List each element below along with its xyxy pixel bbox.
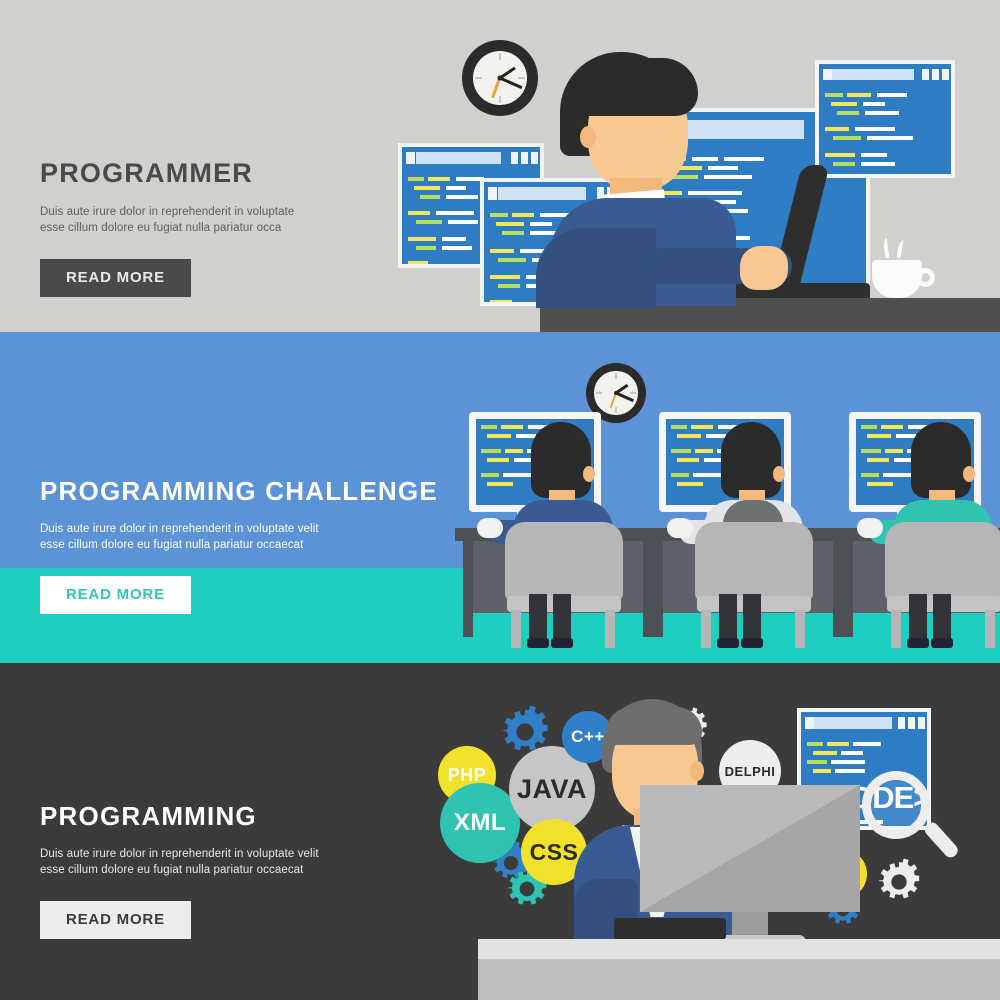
cup-body (872, 260, 922, 298)
chair-leg (701, 610, 711, 648)
window-address-bar (832, 69, 914, 81)
desk-leg (843, 541, 853, 637)
window-minimize-icon[interactable] (898, 717, 905, 729)
page-title: PROGRAMMING (40, 803, 319, 829)
person-hand (857, 518, 883, 538)
shoe (551, 638, 573, 648)
window-maximize-icon[interactable] (908, 717, 915, 729)
clock-tick (596, 392, 602, 394)
window-maximize-icon[interactable] (932, 69, 939, 81)
page-title: PROGRAMMING CHALLENGE (40, 478, 438, 504)
tech-bubble-xml[interactable]: XML (440, 783, 520, 863)
person-legs (529, 594, 579, 652)
person-ear (583, 466, 595, 482)
workstation-1 (455, 412, 670, 662)
person-ear (773, 466, 785, 482)
code-window-floating (815, 60, 955, 178)
magnifier-icon (862, 771, 930, 839)
description-line: Duis aute irure dolor in reprehenderit i… (40, 204, 294, 220)
tech-bubble-label: CSS (530, 839, 579, 866)
banner-set-page: PHP XML JAVA CSS C++ DELPHI CMS (0, 0, 1000, 1000)
tech-bubble-label: JAVA (517, 774, 587, 805)
shoe (931, 638, 953, 648)
read-more-button[interactable]: READ MORE (40, 576, 191, 614)
chair-back (885, 522, 1000, 600)
man-hair-front (606, 707, 702, 745)
clock-center-pin (498, 76, 503, 81)
shoe (741, 638, 763, 648)
clock-tick (499, 53, 501, 60)
leg (909, 594, 927, 642)
clock-tick (499, 96, 501, 103)
page-title: PROGRAMMER (40, 160, 294, 187)
banner-description: Duis aute irure dolor in reprehenderit i… (40, 521, 438, 554)
description-line: esse cillum dolore eu fugiat nulla paria… (40, 537, 438, 553)
clock-tick (615, 373, 617, 379)
workstation-3 (835, 412, 1000, 662)
man-hair-front (580, 58, 698, 116)
shoe (907, 638, 929, 648)
cup-handle (916, 268, 935, 287)
chair-leg (605, 610, 615, 648)
leg (553, 594, 571, 642)
window-menu-icon (488, 187, 497, 200)
window-titlebar (801, 712, 927, 734)
clock-tick (475, 77, 482, 79)
keyboard[interactable] (614, 918, 726, 940)
workstation-2 (645, 412, 860, 662)
banner-description: Duis aute irure dolor in reprehenderit i… (40, 204, 294, 237)
window-titlebar (402, 147, 540, 169)
clock-tick (630, 392, 636, 394)
clock-center-pin (614, 391, 618, 395)
read-more-button[interactable]: READ MORE (40, 259, 191, 297)
banner-3-copy: PROGRAMMING Duis aute irure dolor in rep… (40, 803, 319, 939)
chair-back (505, 522, 623, 600)
window-menu-icon (823, 69, 832, 81)
window-minimize-icon[interactable] (511, 152, 518, 164)
window-address-bar (416, 152, 502, 164)
man-hand (740, 246, 788, 290)
shoe (717, 638, 739, 648)
window-menu-icon (406, 152, 415, 164)
banner-1-copy: PROGRAMMER Duis aute irure dolor in repr… (40, 160, 294, 297)
person-legs (909, 594, 959, 652)
leg (529, 594, 547, 642)
man-ear (690, 761, 704, 781)
desk-front (478, 959, 1000, 1000)
chair-back (695, 522, 813, 600)
desk-surface (478, 939, 1000, 959)
desk-leg (653, 541, 663, 637)
chair-leg (795, 610, 805, 648)
chair-leg (511, 610, 521, 648)
person-ear (963, 466, 975, 482)
window-minimize-icon[interactable] (922, 69, 929, 81)
wall-clock-icon (462, 40, 538, 116)
description-line: Duis aute irure dolor in reprehenderit i… (40, 846, 319, 862)
description-line: esse cillum dolore eu fugiat nulla paria… (40, 862, 319, 878)
person-legs (719, 594, 769, 652)
coffee-cup (868, 238, 936, 300)
person-hair (721, 422, 781, 498)
window-menu-icon (805, 717, 814, 729)
description-line: Duis aute irure dolor in reprehenderit i… (40, 521, 438, 537)
man-ear (580, 126, 596, 148)
desk-leg (463, 541, 473, 637)
person-hair (531, 422, 591, 498)
window-address-bar (814, 717, 892, 729)
leg (933, 594, 951, 642)
window-titlebar (819, 64, 951, 85)
person-hair (911, 422, 971, 498)
steam-icon (883, 238, 893, 259)
tech-bubble-label: XML (454, 809, 506, 837)
banner-2-copy: PROGRAMMING CHALLENGE Duis aute irure do… (40, 478, 438, 614)
code-area (819, 85, 951, 174)
clock-tick (518, 77, 525, 79)
banner-description: Duis aute irure dolor in reprehenderit i… (40, 846, 319, 879)
person-hand (667, 518, 693, 538)
window-close-icon[interactable] (942, 69, 949, 81)
leg (743, 594, 761, 642)
window-maximize-icon[interactable] (521, 152, 528, 164)
gear-icon (875, 858, 923, 906)
leg (719, 594, 737, 642)
read-more-button[interactable]: READ MORE (40, 901, 191, 939)
chair-leg (985, 610, 995, 648)
chair-leg (891, 610, 901, 648)
programmer-man (536, 52, 786, 302)
person-hand (477, 518, 503, 538)
description-line: esse cillum dolore eu fugiat nulla paria… (40, 220, 294, 236)
window-close-icon[interactable] (918, 717, 925, 729)
shoe (527, 638, 549, 648)
steam-icon (896, 240, 906, 259)
man-suit-shoulder (536, 228, 656, 308)
